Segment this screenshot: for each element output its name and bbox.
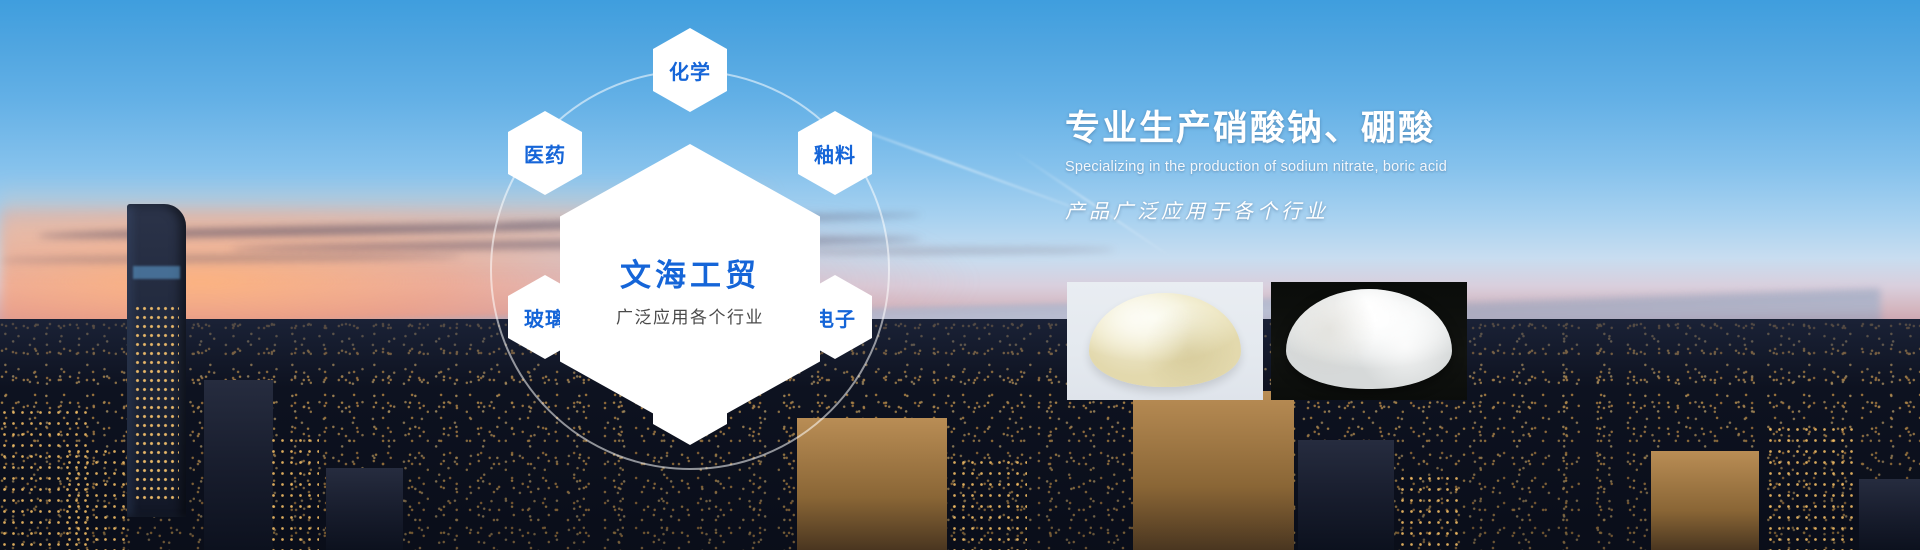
tagline: 产品广泛应用于各个行业 [1065, 195, 1825, 224]
product-photo-sodium-nitrate [1067, 282, 1263, 400]
powder-pile [1089, 293, 1241, 387]
building-silhouette [204, 380, 273, 550]
hex-node-label: 化学 [669, 56, 711, 85]
building-silhouette [1133, 391, 1294, 550]
brand-slogan: 广泛应用各个行业 [616, 303, 764, 328]
hex-node-label: 医药 [524, 139, 566, 168]
powder-pile [1286, 289, 1452, 389]
hex-node-label: 玻璃 [524, 303, 566, 332]
skyscraper-tower [127, 204, 187, 518]
hex-node-label: 釉料 [814, 139, 856, 168]
headline: 专业生产硝酸钠、硼酸 [1065, 108, 1825, 150]
promotional-banner: 化学 釉料 电子 冶金 玻璃 医药 文海工贸 广泛应用各个行业 专业生产硝酸钠、… [0, 0, 1920, 550]
building-silhouette [1859, 479, 1920, 550]
building-silhouette [1766, 424, 1854, 550]
industry-hexagon-diagram: 化学 釉料 电子 冶金 玻璃 医药 文海工贸 广泛应用各个行业 [430, 18, 950, 538]
brand-name: 文海工贸 [620, 250, 760, 295]
headline-english: Specializing in the production of sodium… [1065, 159, 1825, 175]
building-silhouette [1651, 451, 1759, 550]
hex-node-label: 电子 [814, 303, 856, 332]
building-silhouette [1398, 473, 1463, 550]
building-silhouette [1298, 440, 1394, 550]
building-silhouette [326, 468, 403, 550]
building-silhouette [950, 457, 1027, 550]
building-silhouette [269, 435, 319, 550]
building-silhouette [65, 446, 126, 550]
product-photo-boric-acid [1271, 282, 1467, 400]
product-photo-group [1067, 282, 1467, 400]
copy-block: 专业生产硝酸钠、硼酸 Specializing in the productio… [1065, 108, 1825, 224]
